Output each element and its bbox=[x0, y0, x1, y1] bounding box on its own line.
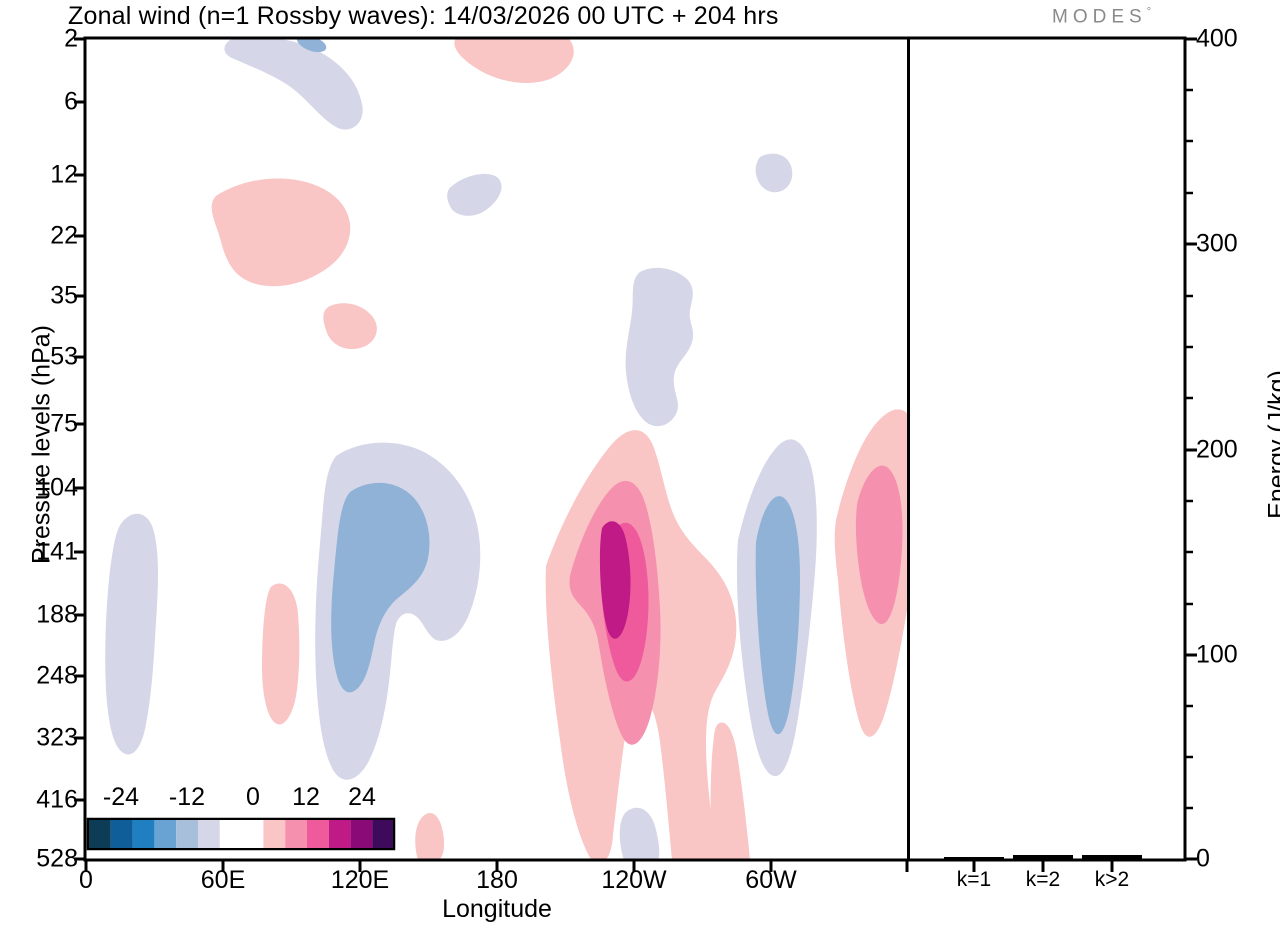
y-tick-label: 22 bbox=[50, 222, 78, 251]
y2-tick-label: 200 bbox=[1196, 436, 1238, 465]
y-tick-label: 35 bbox=[50, 282, 78, 311]
colorbar-swatches bbox=[89, 820, 393, 848]
colorbar bbox=[88, 819, 394, 849]
colorbar-swatch bbox=[263, 820, 285, 848]
y-tick-label: 141 bbox=[36, 538, 78, 567]
x-tick-label: 60E bbox=[201, 866, 245, 895]
colorbar-swatch bbox=[351, 820, 373, 848]
y-tick-label: 188 bbox=[36, 601, 78, 630]
y2-tick-label: 0 bbox=[1196, 845, 1210, 874]
colorbar-swatch bbox=[89, 820, 111, 848]
y-tick-label: 53 bbox=[50, 343, 78, 372]
colorbar-swatch bbox=[242, 820, 264, 848]
colorbar-swatch bbox=[372, 820, 393, 848]
colorbar-tick-label: -24 bbox=[103, 783, 139, 812]
y2-tick-label: 300 bbox=[1196, 230, 1238, 259]
colorbar-swatch bbox=[285, 820, 307, 848]
colorbar-tick-label: 0 bbox=[246, 783, 260, 812]
x-tick-label: 180 bbox=[476, 866, 518, 895]
energy-bar-k1 bbox=[944, 857, 1004, 860]
k-tick-label-k2: k=2 bbox=[1026, 868, 1060, 892]
colorbar-tick-label: -12 bbox=[169, 783, 205, 812]
contour-pos-pale-left-oval bbox=[262, 584, 299, 725]
y2-tick-label: 100 bbox=[1196, 641, 1238, 670]
y-tick-label: 528 bbox=[36, 845, 78, 874]
k-tick-label-k1: k=1 bbox=[957, 868, 991, 892]
colorbar-swatch bbox=[154, 820, 176, 848]
colorbar-tick-label: 12 bbox=[292, 783, 320, 812]
colorbar-swatch bbox=[329, 820, 351, 848]
y-tick-label: 416 bbox=[36, 786, 78, 815]
colorbar-swatch bbox=[198, 820, 220, 848]
energy-bar-kgt2 bbox=[1082, 855, 1142, 860]
y2-tick-label: 400 bbox=[1196, 25, 1238, 54]
y2-axis-labels: 400 300 200 100 0 bbox=[1196, 0, 1280, 930]
k-tick-label-kgt2: k>2 bbox=[1095, 868, 1129, 892]
y-tick-label: 12 bbox=[50, 161, 78, 190]
y-axis-labels: 2 6 12 22 35 53 75 104 141 188 248 323 4… bbox=[0, 0, 78, 930]
y-tick-label: 323 bbox=[36, 724, 78, 753]
energy-bar-k2 bbox=[1013, 855, 1073, 860]
colorbar-swatch bbox=[307, 820, 329, 848]
y-tick-label: 2 bbox=[64, 25, 78, 54]
x-tick-label: 0 bbox=[79, 866, 93, 895]
y-tick-label: 248 bbox=[36, 662, 78, 691]
x-tick-label: 60W bbox=[745, 866, 796, 895]
colorbar-tick-label: 24 bbox=[348, 783, 376, 812]
colorbar-swatch bbox=[176, 820, 198, 848]
x-tick-label: 120W bbox=[601, 866, 666, 895]
y-tick-label: 6 bbox=[64, 88, 78, 117]
colorbar-swatch bbox=[111, 820, 133, 848]
x-tick-label: 120E bbox=[331, 866, 389, 895]
chart-root: Zonal wind (n=1 Rossby waves): 14/03/202… bbox=[0, 0, 1280, 930]
colorbar-swatch bbox=[220, 820, 242, 848]
y-tick-label: 75 bbox=[50, 410, 78, 439]
y-tick-label: 104 bbox=[36, 474, 78, 503]
colorbar-swatch bbox=[133, 820, 155, 848]
